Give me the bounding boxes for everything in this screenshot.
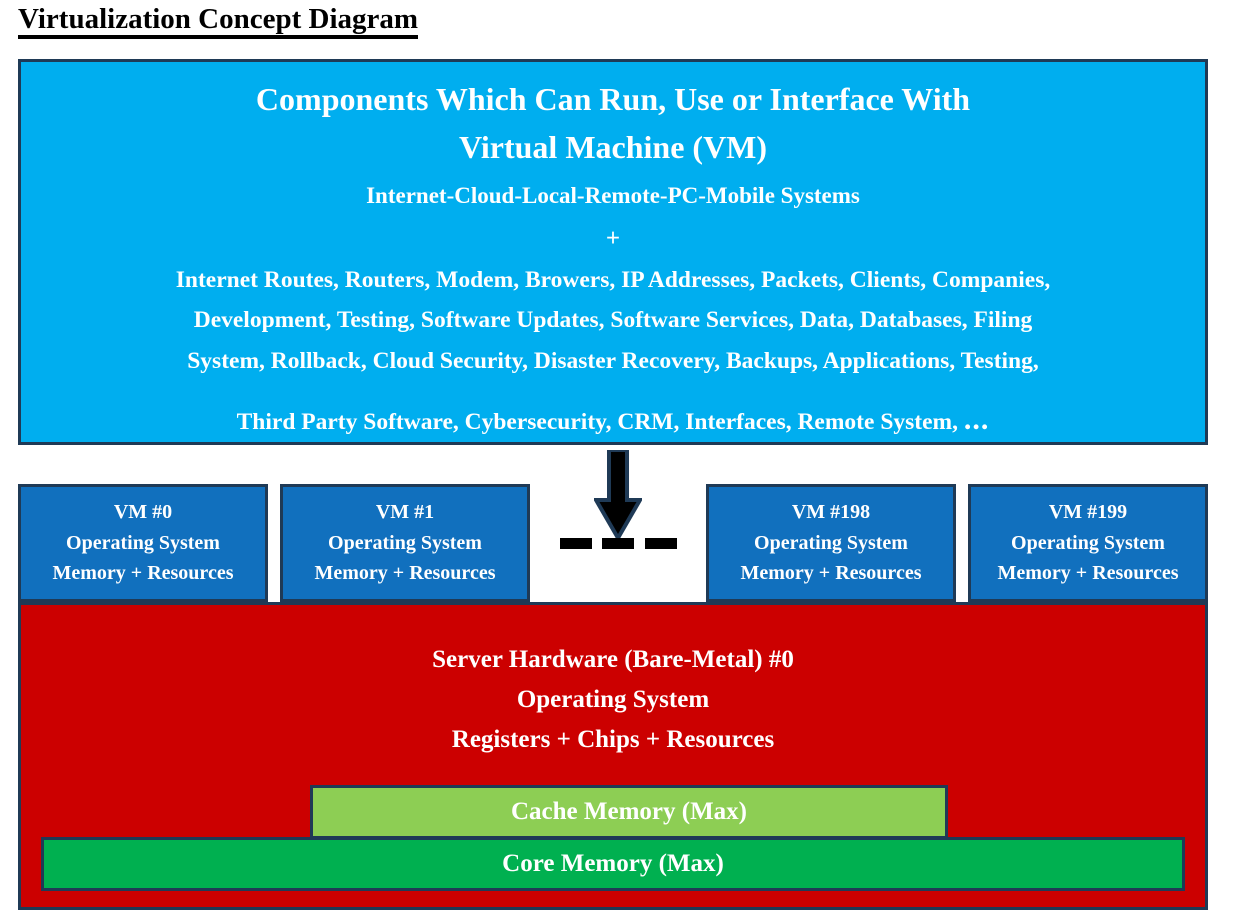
server-hardware-resources: Registers + Chips + Resources	[21, 720, 1205, 760]
panel-list-line-1: Internet Routes, Routers, Modem, Browers…	[31, 260, 1195, 300]
page-title: Virtualization Concept Diagram	[18, 4, 418, 39]
cache-memory-bar: Cache Memory (Max)	[310, 785, 948, 839]
vm-box-199[interactable]: VM #199 Operating System Memory + Resour…	[968, 484, 1208, 602]
vm-box-1-resources: Memory + Resources	[283, 558, 527, 589]
vm-box-198[interactable]: VM #198 Operating System Memory + Resour…	[706, 484, 956, 602]
panel-heading-line-2: Virtual Machine (VM)	[31, 123, 1195, 172]
panel-list-line-2: Development, Testing, Software Updates, …	[31, 300, 1195, 340]
panel-subtitle: Internet-Cloud-Local-Remote-PC-Mobile Sy…	[31, 176, 1195, 216]
server-hardware-panel: Server Hardware (Bare-Metal) #0 Operatin…	[18, 602, 1208, 910]
server-hardware-title: Server Hardware (Bare-Metal) #0	[21, 640, 1205, 680]
panel-heading-line-1: Components Which Can Run, Use or Interfa…	[31, 76, 1195, 123]
vm-box-1[interactable]: VM #1 Operating System Memory + Resource…	[280, 484, 530, 602]
vm-box-198-resources: Memory + Resources	[709, 558, 953, 589]
core-memory-bar: Core Memory (Max)	[41, 837, 1185, 891]
vm-box-199-resources: Memory + Resources	[971, 558, 1205, 589]
vm-box-0[interactable]: VM #0 Operating System Memory + Resource…	[18, 484, 268, 602]
vm-row: VM #0 Operating System Memory + Resource…	[0, 484, 1236, 602]
panel-list-line-3: System, Rollback, Cloud Security, Disast…	[31, 341, 1195, 381]
vm-box-0-resources: Memory + Resources	[21, 558, 265, 589]
vm-box-199-name: VM #199	[971, 497, 1205, 528]
panel-list-line-4-text: Third Party Software, Cybersecurity, CRM…	[237, 409, 964, 435]
vm-components-panel: Components Which Can Run, Use or Interfa…	[18, 59, 1208, 445]
vm-box-0-name: VM #0	[21, 497, 265, 528]
vm-box-1-name: VM #1	[283, 497, 527, 528]
vm-box-199-os: Operating System	[971, 528, 1205, 559]
panel-ellipsis: ...	[964, 403, 990, 436]
panel-plus-symbol: +	[31, 218, 1195, 261]
vm-box-0-os: Operating System	[21, 528, 265, 559]
server-hardware-os: Operating System	[21, 680, 1205, 720]
vm-box-198-os: Operating System	[709, 528, 953, 559]
panel-list-line-4: Third Party Software, Cybersecurity, CRM…	[31, 394, 1195, 446]
vm-box-198-name: VM #198	[709, 497, 953, 528]
vm-box-1-os: Operating System	[283, 528, 527, 559]
